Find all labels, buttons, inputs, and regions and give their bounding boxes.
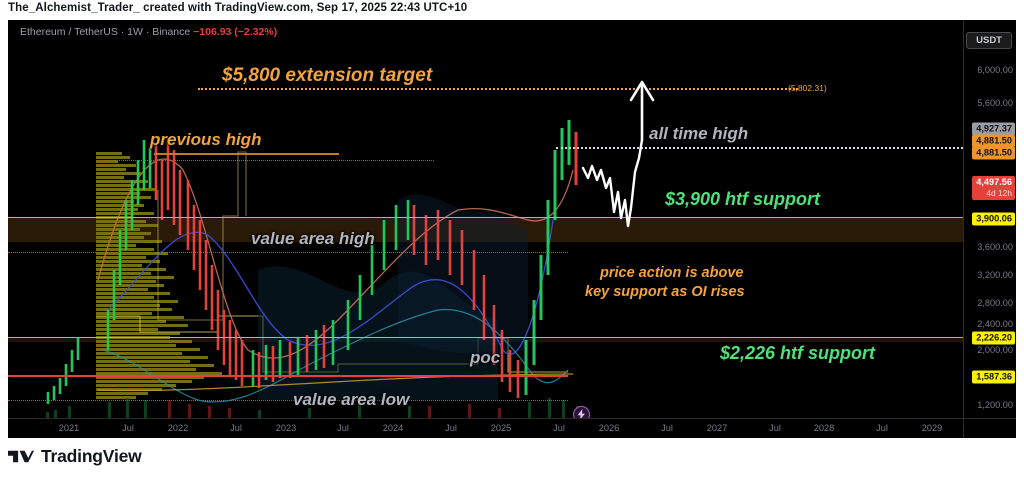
lightning-bolt-icon xyxy=(577,409,586,418)
level-line-htf-support-3900 xyxy=(8,217,963,218)
price-tick: 5,600.00 xyxy=(977,98,1013,108)
annotation-previous-high: previous high xyxy=(150,130,261,150)
time-tick: 2024 xyxy=(383,423,403,433)
price-badge-yellow[interactable]: 3,900.06 xyxy=(972,213,1015,226)
chart-legend: Ethereum / TetherUS · 1W · Binance −106.… xyxy=(20,26,277,38)
time-tick: 2029 xyxy=(922,423,942,433)
currency-badge[interactable]: USDT xyxy=(966,32,1012,49)
time-tick: 2021 xyxy=(59,423,79,433)
chart-frame: $5,800 extension target (5,802.31) all t… xyxy=(8,20,1016,438)
level-line-previous-high xyxy=(104,160,434,161)
legend-change: −106.93 (−2.32%) xyxy=(193,26,277,38)
time-tick: Jul xyxy=(337,423,349,433)
time-tick: 2023 xyxy=(276,423,296,433)
price-tick: 2,400.00 xyxy=(977,319,1013,329)
level-line-extension-target xyxy=(198,88,798,90)
volume-profile xyxy=(96,152,222,399)
time-tick: Jul xyxy=(661,423,673,433)
annotation-extension-target: $5,800 extension target xyxy=(222,65,432,87)
annotation-value-area-high: value area high xyxy=(251,229,375,249)
time-tick: Jul xyxy=(769,423,781,433)
time-tick: 2026 xyxy=(599,423,619,433)
annotation-poc: poc xyxy=(470,348,500,368)
price-tick: 3,600.00 xyxy=(977,242,1013,252)
screenshot-root: The_Alchemist_Trader_ created with Tradi… xyxy=(0,0,1024,478)
level-line-poc xyxy=(8,375,568,377)
time-tick: 2022 xyxy=(168,423,188,433)
price-tick: 2,000.00 xyxy=(977,345,1013,355)
price-badge-yellow[interactable]: 2,226.20 xyxy=(972,332,1015,345)
chart-plot-area[interactable]: $5,800 extension target (5,802.31) all t… xyxy=(8,20,963,418)
time-tick: 2025 xyxy=(491,423,511,433)
legend-symbol: Ethereum / TetherUS · 1W · Binance xyxy=(20,26,190,38)
annotation-extension-target-value: (5,802.31) xyxy=(788,83,827,93)
price-tick: 6,000.00 xyxy=(977,65,1013,75)
time-scale-separator xyxy=(963,419,964,438)
time-scale[interactable]: 2021Jul2022Jul2023Jul2024Jul2025Jul2026J… xyxy=(8,418,1016,438)
annotation-htf-support-2226: $2,226 htf support xyxy=(720,343,875,364)
tradingview-logo-icon xyxy=(8,449,34,464)
price-tick: 2,800.00 xyxy=(977,298,1013,308)
tradingview-wordmark: TradingView xyxy=(41,446,142,467)
level-line-value-area-high xyxy=(8,252,568,253)
level-line-value-area-low xyxy=(8,400,568,401)
attribution-text: The_Alchemist_Trader_ created with Tradi… xyxy=(8,2,467,14)
time-tick: Jul xyxy=(876,423,888,433)
footer-branding: TradingView xyxy=(8,446,142,467)
price-badge-yellow[interactable]: 1,587.36 xyxy=(972,371,1015,384)
time-tick: Jul xyxy=(230,423,242,433)
time-tick: Jul xyxy=(553,423,565,433)
price-tick: 3,200.00 xyxy=(977,270,1013,280)
price-badge-red[interactable]: 4,497.564d 12h xyxy=(972,176,1015,200)
annotation-price-action-line2: key support as OI rises xyxy=(585,284,745,300)
lightning-badge[interactable] xyxy=(573,406,590,418)
annotation-all-time-high: all time high xyxy=(649,124,748,144)
annotation-previous-high-underline xyxy=(154,153,339,155)
annotation-htf-support-3900: $3,900 htf support xyxy=(665,189,820,210)
time-tick: 2027 xyxy=(707,423,727,433)
annotation-price-action-line1: price action is above xyxy=(600,265,743,281)
time-tick: 2028 xyxy=(814,423,834,433)
price-tick: 1,200.00 xyxy=(977,400,1013,410)
annotation-value-area-low: value area low xyxy=(293,390,409,410)
price-badge-orange[interactable]: 4,881.50 xyxy=(972,147,1015,160)
countdown-text: 4d 12h xyxy=(976,188,1012,199)
time-tick: Jul xyxy=(122,423,134,433)
level-line-htf-support-2226 xyxy=(8,337,963,338)
price-scale[interactable]: USDT 6,000.005,600.003,600.003,200.002,8… xyxy=(963,20,1016,438)
level-line-all-time-high xyxy=(556,147,963,149)
time-tick: Jul xyxy=(445,423,457,433)
